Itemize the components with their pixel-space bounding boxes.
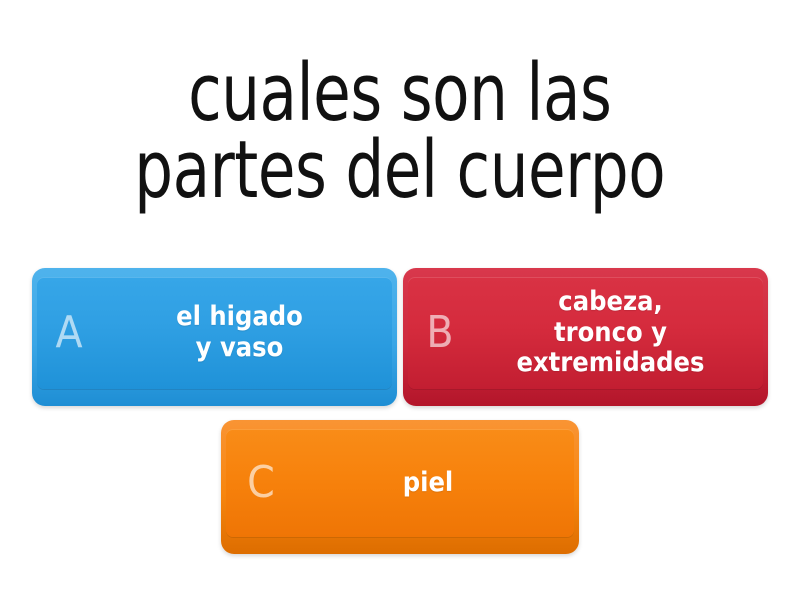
quiz-stage: cuales son las partes del cuerpo A el hi… — [0, 0, 800, 600]
answer-option-b[interactable]: B cabeza, tronco y extremidades — [403, 268, 768, 406]
answer-row-bottom: C piel — [0, 420, 800, 554]
answer-option-c-face: C piel — [226, 429, 574, 537]
question-area: cuales son las partes del cuerpo — [0, 22, 800, 242]
answer-letter-b: B — [408, 311, 472, 355]
answer-row-top: A el higado y vaso B cabeza, tronco y ex… — [0, 268, 800, 406]
answer-option-a-face: A el higado y vaso — [37, 277, 392, 389]
answer-letter-a: A — [37, 311, 101, 355]
answer-label-a: el higado y vaso — [101, 302, 384, 364]
answer-option-a[interactable]: A el higado y vaso — [32, 268, 397, 406]
answer-option-c[interactable]: C piel — [221, 420, 579, 554]
answer-label-c: piel — [296, 468, 566, 499]
answer-option-b-face: B cabeza, tronco y extremidades — [408, 277, 763, 389]
answer-label-b: cabeza, tronco y extremidades — [472, 287, 755, 379]
question-text: cuales son las partes del cuerpo — [134, 55, 665, 208]
answer-options-list: A el higado y vaso B cabeza, tronco y ex… — [0, 268, 800, 554]
answer-letter-c: C — [226, 461, 296, 505]
